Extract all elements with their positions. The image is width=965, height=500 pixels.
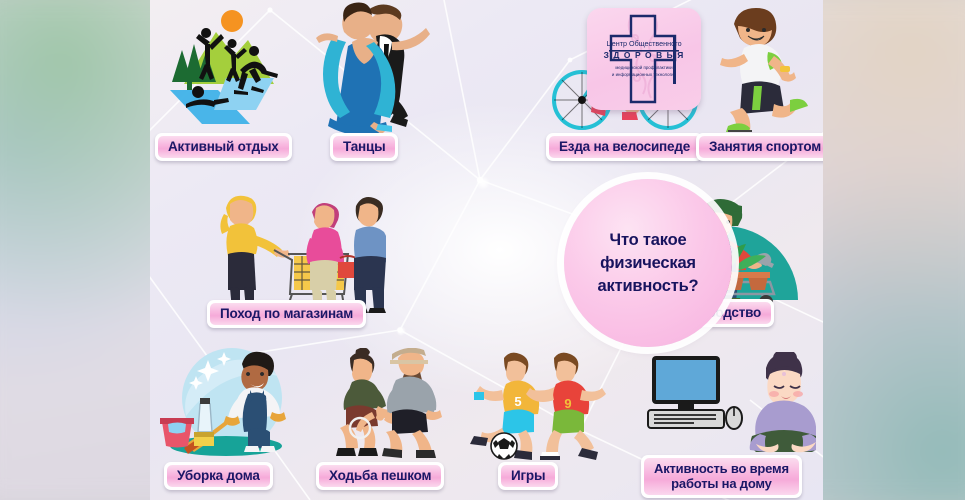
svg-text:5: 5 <box>514 394 521 409</box>
label-text: Поход по магазинам <box>220 306 353 321</box>
label-text: Активный отдых <box>168 139 279 154</box>
label-text-line1: Активность во время <box>654 461 789 476</box>
label-tancy[interactable]: Танцы <box>330 133 398 161</box>
label-text: Танцы <box>343 139 385 154</box>
label-rabota-doma[interactable]: Активность во время работы на дому <box>641 455 802 498</box>
label-text: Игры <box>511 468 545 483</box>
label-hodba[interactable]: Ходьба пешком <box>316 462 444 490</box>
central-line-2: физическая <box>598 252 699 275</box>
sparkle-node <box>396 326 406 336</box>
label-aktivny-otdyh[interactable]: Активный отдых <box>155 133 292 161</box>
runner-icon <box>698 4 816 132</box>
organization-logo-card: Центр Общественного З Д О Р О В Ь Я меди… <box>587 8 701 110</box>
central-question-text: Что такое физическая активность? <box>598 229 699 298</box>
label-magaziny[interactable]: Поход по магазинам <box>207 300 366 328</box>
central-line-3: активность? <box>598 275 699 298</box>
label-text: Занятия спортом <box>709 139 821 154</box>
poster-panel: Активный отдых Танцы <box>150 0 823 500</box>
label-text: Езда на велосипеде <box>559 139 690 154</box>
logo-line-4: и информационных технологий <box>612 72 677 77</box>
cleaning-icon <box>156 346 308 458</box>
label-uborka[interactable]: Уборка дома <box>164 462 273 490</box>
logo-line-1: Центр Общественного <box>606 39 681 48</box>
medical-cross-icon: Центр Общественного З Д О Р О В Ь Я меди… <box>587 8 701 110</box>
label-igry[interactable]: Игры <box>498 462 558 490</box>
logo-line-3: медицинской профилактики <box>615 65 673 70</box>
soccer-kids-icon: 5 9 <box>468 350 606 460</box>
ballroom-dancers-icon <box>308 2 430 134</box>
shoppers-icon <box>196 192 386 314</box>
svg-text:9: 9 <box>564 396 571 411</box>
central-line-1: Что такое <box>598 229 699 252</box>
meditation-computer-icon <box>640 352 816 456</box>
label-text: Уборка дома <box>177 468 260 483</box>
label-sport[interactable]: Занятия спортом <box>696 133 823 161</box>
label-text: Ходьба пешком <box>329 468 431 483</box>
sparkle-node <box>476 176 490 190</box>
infographic-poster: Активный отдых Танцы <box>0 0 965 500</box>
label-velosiped[interactable]: Езда на велосипеде <box>546 133 703 161</box>
label-text-line2: работы на дому <box>654 476 789 491</box>
outdoor-recreation-icon <box>156 6 284 131</box>
walking-couple-icon <box>316 348 442 460</box>
central-question-badge: Что такое физическая активность? <box>564 179 732 347</box>
